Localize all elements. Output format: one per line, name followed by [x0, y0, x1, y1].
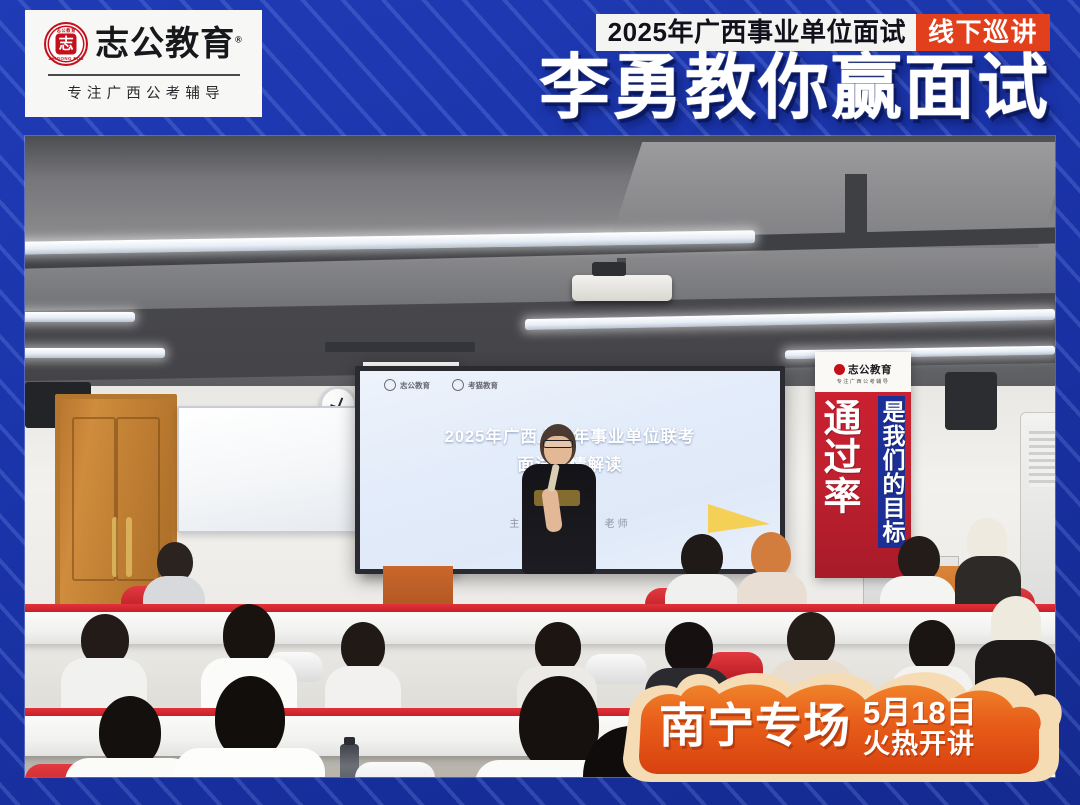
logo-divider: [48, 74, 240, 76]
projector: [572, 275, 672, 301]
student: [955, 518, 1021, 608]
event-banner-text: 南宁专场 5月18日 火热开讲: [615, 662, 1065, 788]
slide-logo-right: 考猫教育: [452, 379, 498, 391]
event-city: 南宁专场: [659, 704, 851, 751]
slide-logo-left: 志公教育: [384, 379, 430, 391]
cat-icon: [452, 379, 464, 391]
student-head: [341, 622, 385, 672]
poster-root: 志公教育 志 ZHIGONG EDU 志公教育® 专注广西公考辅导 2025年广…: [0, 0, 1080, 805]
brand-name: 志公教育®: [95, 27, 243, 61]
banner-right-tagline: 专注广西公考辅导: [837, 378, 890, 385]
student: Welcome: [175, 676, 325, 777]
page-title: 李勇教你赢面试: [539, 53, 1050, 126]
seal-icon: 志公教育 志 ZHIGONG EDU: [44, 22, 88, 66]
presenter-figure: [520, 424, 598, 574]
slide-logos: 志公教育 考猫教育: [384, 379, 498, 391]
slide-decor-wedge: [708, 504, 770, 533]
banner-right-brand-row: 志公教育: [834, 362, 892, 377]
brand-logo: 志公教育 志 ZHIGONG EDU 志公教育® 专注广西公考辅导: [25, 10, 262, 117]
student-cap: [991, 596, 1041, 646]
ceiling-duct: [845, 174, 867, 234]
door-handle: [112, 517, 118, 577]
kicker-row: 2025年广西事业单位面试 线下巡讲: [596, 14, 1050, 51]
ceiling-light-tube: [25, 312, 135, 322]
seal-arc-bottom-label: ZHIGONG EDU: [46, 56, 86, 61]
banner-right-small-text: 是我们的目标: [878, 396, 905, 548]
event-cta: 火热开讲: [863, 731, 977, 758]
registered-mark: ®: [235, 35, 243, 45]
banner-right-header: 志公教育 专注广西公考辅导: [815, 352, 911, 392]
wall-speaker: [945, 372, 997, 430]
ceiling-rail: [325, 342, 475, 352]
slide-logo-right-text: 考猫教育: [468, 380, 498, 391]
student-head: [223, 604, 275, 666]
banner-right-big-text: 通过率: [819, 398, 857, 515]
seal-icon: [384, 379, 396, 391]
kicker-label: 2025年广西事业单位面试: [596, 14, 916, 51]
banner-right-brand: 志公教育: [848, 362, 892, 377]
headline-cluster: 2025年广西事业单位面试 线下巡讲 李勇教你赢面试: [539, 14, 1050, 126]
slide-logo-left-text: 志公教育: [400, 380, 430, 391]
glasses-icon: [543, 440, 573, 448]
ceiling-light-tube: [25, 348, 165, 358]
poster-header: 志公教育 志 ZHIGONG EDU 志公教育® 专注广西公考辅导 2025年广…: [0, 0, 1080, 135]
logo-row: 志公教育 志 ZHIGONG EDU 志公教育®: [44, 22, 243, 66]
student-cap: [967, 518, 1007, 560]
seal-character: 志: [56, 34, 77, 55]
event-date: 5月18日: [863, 697, 977, 728]
whiteboard: [177, 406, 373, 533]
brand-tagline: 专注广西公考辅导: [62, 82, 225, 103]
student-body: [175, 748, 325, 777]
chair: [355, 762, 435, 777]
event-detail: 5月18日 火热开讲: [863, 697, 977, 758]
student-head: [787, 612, 835, 666]
brand-name-text: 志公教育: [95, 25, 235, 63]
door-handle: [126, 517, 132, 577]
status-badge: 线下巡讲: [916, 14, 1050, 51]
event-banner: 南宁专场 5月18日 火热开讲: [615, 662, 1065, 788]
student-head: [535, 622, 581, 672]
seal-icon: [834, 364, 845, 375]
